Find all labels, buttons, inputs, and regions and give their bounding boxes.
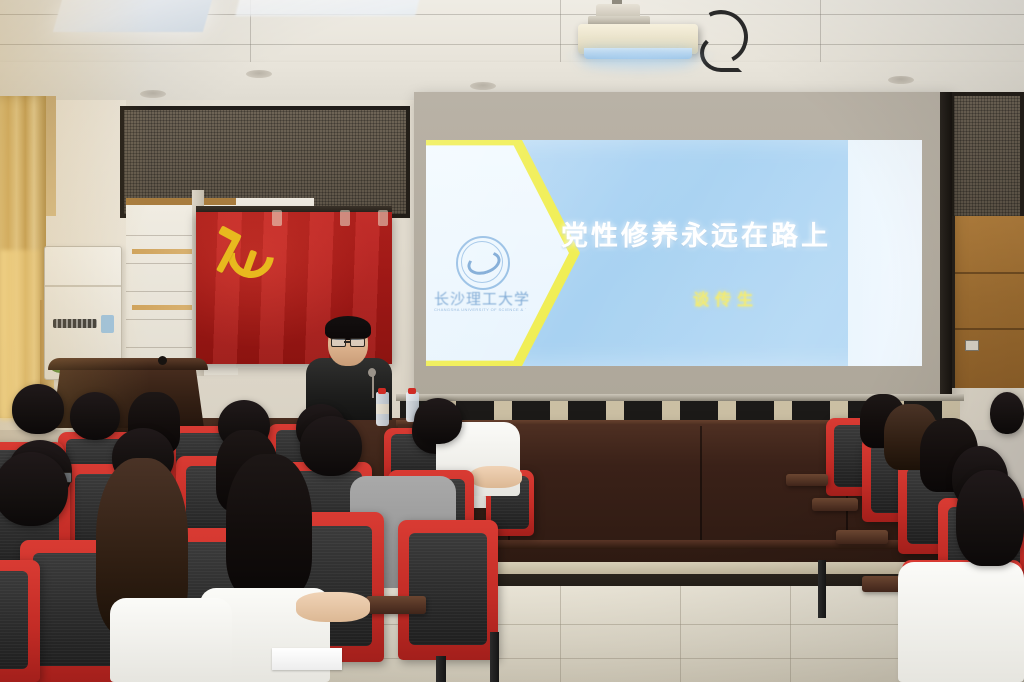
microphone-stand xyxy=(372,374,374,398)
audience-member-head xyxy=(12,384,64,434)
ac-vent-icon xyxy=(53,319,97,328)
audience-member-head xyxy=(0,452,68,526)
audience-member-head xyxy=(70,392,120,440)
auditorium-seat[interactable] xyxy=(398,520,498,660)
audience-member-head xyxy=(414,398,462,444)
seat-tablet-arm[interactable] xyxy=(786,474,828,486)
slide-subtitle: 谈传生 xyxy=(606,286,846,310)
glasses-icon xyxy=(331,338,346,347)
lecture-hall-scene: 长沙理工大学 CHANGSHA UNIVERSITY OF SCIENCE & … xyxy=(0,0,1024,682)
microphone-head-icon xyxy=(368,368,376,377)
floor-tile-line xyxy=(680,586,681,682)
ceiling-speaker-icon xyxy=(246,70,272,78)
floor-tile-line xyxy=(560,586,561,682)
auditorium-seat[interactable] xyxy=(0,560,40,682)
university-name-en: CHANGSHA UNIVERSITY OF SCIENCE & TECHNOL… xyxy=(434,307,526,312)
slide-title: 党性修养永远在路上 xyxy=(546,214,846,253)
ac-badge-icon xyxy=(101,315,114,333)
lectern-top xyxy=(48,358,208,370)
flag-clip-icon xyxy=(272,210,282,226)
slide-overscan-band xyxy=(848,140,922,366)
university-logo: 长沙理工大学 CHANGSHA UNIVERSITY OF SCIENCE & … xyxy=(434,236,526,320)
bottle-cap-icon xyxy=(408,388,416,394)
audience-member-arm xyxy=(296,592,370,622)
seat-leg xyxy=(818,560,826,618)
screen-side-shadow xyxy=(940,92,952,404)
projection-screen-surface: 长沙理工大学 CHANGSHA UNIVERSITY OF SCIENCE & … xyxy=(426,140,922,366)
seat-leg xyxy=(490,632,499,682)
light-switch-plate[interactable] xyxy=(965,340,979,351)
seat-tablet-arm[interactable] xyxy=(366,596,426,614)
ceiling-grid-line xyxy=(0,44,1024,45)
flag-clip-icon xyxy=(378,210,388,226)
ceiling-grid-line xyxy=(820,0,821,62)
notebook-paper xyxy=(272,648,342,670)
seat-tablet-arm[interactable] xyxy=(836,530,888,544)
audience-member-hair xyxy=(226,454,312,598)
wood-wall-panel xyxy=(950,216,1024,388)
glasses-bridge-icon xyxy=(344,341,350,343)
ceiling-light-panel-icon xyxy=(53,0,213,32)
projector-light-beam xyxy=(560,52,720,78)
lectern-knob-icon xyxy=(158,356,167,365)
audience-member-arm xyxy=(470,466,522,488)
ceiling-speaker-icon xyxy=(888,76,914,84)
acoustic-panel-right xyxy=(950,92,1024,220)
audience-member-torso xyxy=(110,598,232,682)
university-name-cn: 长沙理工大学 xyxy=(434,288,526,309)
audience-member-head xyxy=(300,416,362,476)
ceiling-speaker-icon xyxy=(470,82,496,90)
speaker-hair xyxy=(325,316,371,340)
bottle-cap-icon xyxy=(378,388,386,394)
seat-tablet-arm[interactable] xyxy=(812,498,858,511)
bottle-label xyxy=(376,404,389,414)
hammer-and-sickle-icon xyxy=(212,228,268,280)
audience-member-torso xyxy=(898,562,1024,682)
flag-clip-icon xyxy=(340,210,350,226)
floor-tile-line xyxy=(790,586,791,682)
audience-member-head xyxy=(956,470,1024,566)
glasses-icon xyxy=(350,338,365,347)
audience-member-head xyxy=(990,392,1024,434)
table-seam xyxy=(700,426,702,542)
seat-leg xyxy=(436,656,446,682)
ceiling-light-panel-icon xyxy=(235,0,420,16)
ceiling-speaker-icon xyxy=(140,90,166,98)
